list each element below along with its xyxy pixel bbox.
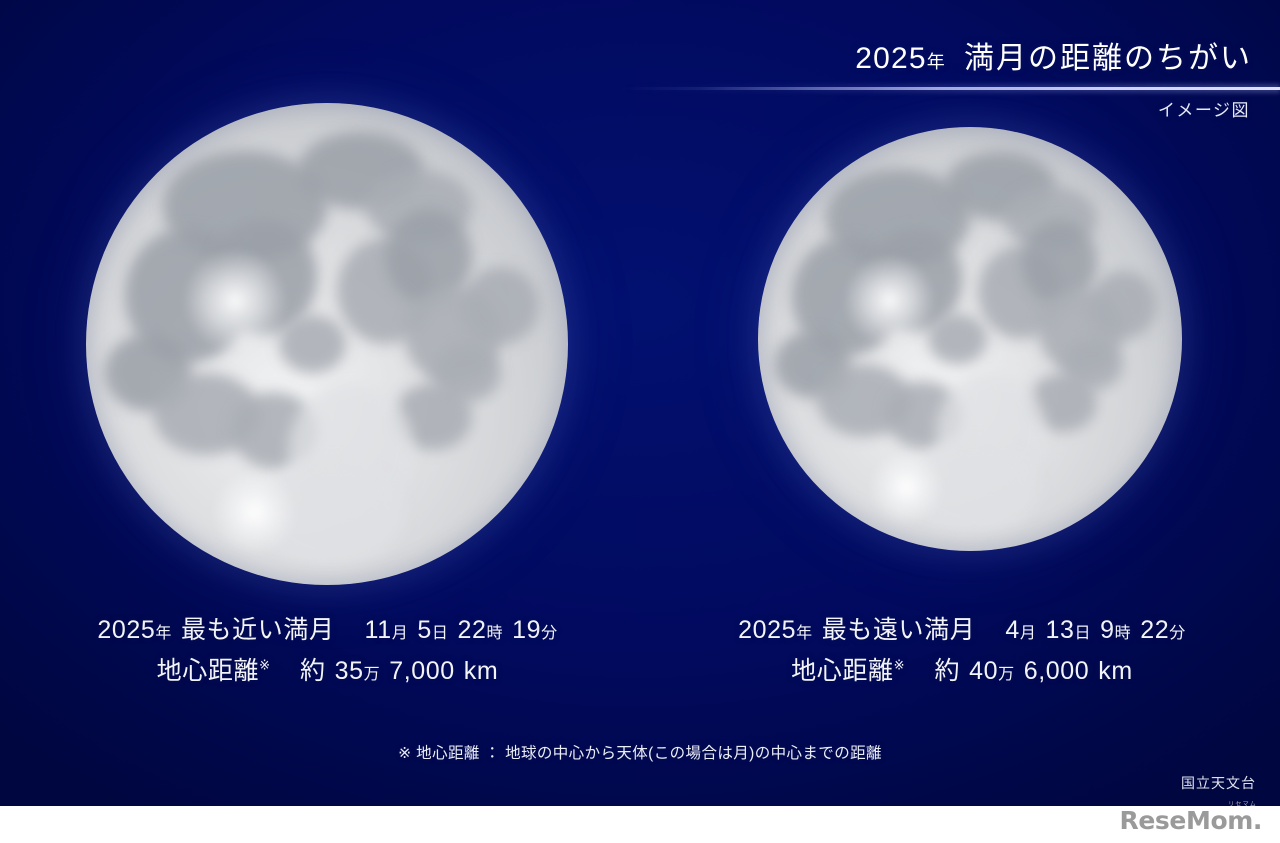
caption-farthest-full-moon: 2025年最も遠い満月4月13日9時22分 地心距離※約40万6,000km (662, 612, 1262, 696)
figure-stage: 2025年満月の距離のちがい イメージ図 (0, 0, 1280, 843)
closest-minute-unit: 分 (541, 625, 558, 642)
farthest-day: 13 (1045, 616, 1074, 644)
closest-month-unit: 月 (392, 625, 409, 642)
night-sky-panel: 2025年満月の距離のちがい イメージ図 (0, 0, 1280, 806)
farthest-month: 4 (1005, 616, 1020, 644)
closest-distance-man: 35 (335, 657, 364, 685)
resemom-logo: リセマムReseMom. (1120, 808, 1262, 833)
caption-farthest-distance-line: 地心距離※約40万6,000km (662, 648, 1262, 696)
closest-hour: 22 (457, 616, 486, 644)
moon-disc-closest (86, 103, 568, 585)
moon-disc-farthest (758, 127, 1182, 551)
farthest-distance-unit: km (1098, 657, 1133, 685)
title-main: 満月の距離のちがい (964, 42, 1252, 75)
source-credit: 国立天文台 (1181, 773, 1256, 793)
resemom-logo-ruby: リセマム (1228, 802, 1257, 808)
caption-closest-date-line: 2025年最も近い満月11月5日22時19分 (20, 612, 635, 648)
farthest-distance-rest: 6,000 (1024, 657, 1090, 685)
closest-approx: 約 (300, 657, 326, 685)
closest-distance-rest: 7,000 (389, 657, 455, 685)
footnote-geocentric-distance: ※ 地心距離 ： 地球の中心から天体(この場合は月)の中心までの距離 (0, 741, 1280, 763)
closest-descriptor: 最も近い満月 (181, 616, 335, 644)
watermark-bar (0, 806, 1280, 843)
closest-day-unit: 日 (432, 625, 449, 642)
caption-farthest-date-line: 2025年最も遠い満月4月13日9時22分 (662, 612, 1262, 648)
page-title: 2025年満月の距離のちがい (855, 42, 1252, 77)
closest-distance-label: 地心距離 (157, 657, 259, 685)
closest-month: 11 (365, 616, 392, 644)
title-year-unit: 年 (927, 52, 946, 72)
header-divider-rule (0, 87, 1280, 90)
farthest-minute: 22 (1140, 616, 1169, 644)
closest-man-unit: 万 (364, 666, 381, 683)
farthest-hour: 9 (1100, 616, 1115, 644)
farthest-month-unit: 月 (1020, 625, 1037, 642)
farthest-ref-mark: ※ (894, 658, 905, 673)
caption-closest-full-moon: 2025年最も近い満月11月5日22時19分 地心距離※約35万7,000km (20, 612, 635, 696)
farthest-day-unit: 日 (1075, 625, 1092, 642)
header-block: 2025年満月の距離のちがい (855, 42, 1252, 77)
closest-year: 2025 (97, 616, 155, 644)
closest-day: 5 (417, 616, 432, 644)
farthest-year-unit: 年 (796, 625, 813, 642)
title-year: 2025 (855, 42, 927, 75)
closest-hour-unit: 時 (486, 625, 503, 642)
resemom-logo-dot: . (1253, 806, 1262, 835)
farthest-descriptor: 最も遠い満月 (822, 616, 976, 644)
subtitle: イメージ図 (1158, 96, 1250, 121)
closest-ref-mark: ※ (259, 658, 270, 673)
farthest-man-unit: 万 (998, 666, 1015, 683)
closest-distance-unit: km (464, 657, 499, 685)
farthest-distance-man: 40 (969, 657, 998, 685)
farthest-year: 2025 (738, 616, 796, 644)
closest-year-unit: 年 (155, 625, 172, 642)
caption-closest-distance-line: 地心距離※約35万7,000km (20, 648, 635, 696)
farthest-hour-unit: 時 (1115, 625, 1132, 642)
farthest-minute-unit: 分 (1169, 625, 1186, 642)
farthest-approx: 約 (934, 657, 960, 685)
farthest-distance-label: 地心距離 (791, 657, 893, 685)
resemom-logo-text: ReseMom (1120, 806, 1253, 835)
closest-minute: 19 (512, 616, 541, 644)
